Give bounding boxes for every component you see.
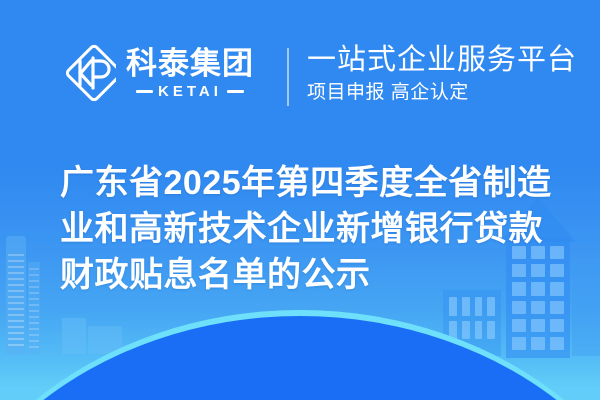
skyline-slab-right <box>572 258 600 356</box>
brand-name-cn: 科泰集团 <box>126 47 254 81</box>
brand-name-en-row: KETAI <box>136 84 244 99</box>
dash-right-icon <box>227 90 244 93</box>
skyline-tower-left-secondary <box>28 262 40 354</box>
tagline-block: 一站式企业服务平台 项目申报 高企认定 <box>307 42 577 106</box>
dash-left-icon <box>136 90 153 93</box>
page-title: 广东省2025年第四季度全省制造业和高新技术企业新增银行贷款财政贴息名单的公示 <box>60 160 572 298</box>
brand-logo-text: 科泰集团 KETAI <box>126 47 254 99</box>
skyline-block-left <box>62 318 86 354</box>
header-divider <box>287 48 289 106</box>
window-grid-small <box>449 297 495 339</box>
brand-name-en: KETAI <box>158 84 222 99</box>
promo-banner: 科泰集团 KETAI 一站式企业服务平台 项目申报 高企认定 广东省2025年第… <box>0 0 600 400</box>
tagline-secondary: 项目申报 高企认定 <box>307 80 577 106</box>
tagline-primary: 一站式企业服务平台 <box>307 42 577 78</box>
brand-logo[interactable]: 科泰集团 KETAI <box>58 44 254 102</box>
skyline-tower-left <box>6 244 26 354</box>
tower-window-stripes <box>8 254 24 350</box>
ketai-diamond-kp-logo-icon <box>58 44 116 102</box>
banner-header: 科泰集团 KETAI 一站式企业服务平台 项目申报 高企认定 <box>0 0 600 140</box>
tower-window-stripes <box>29 268 39 351</box>
